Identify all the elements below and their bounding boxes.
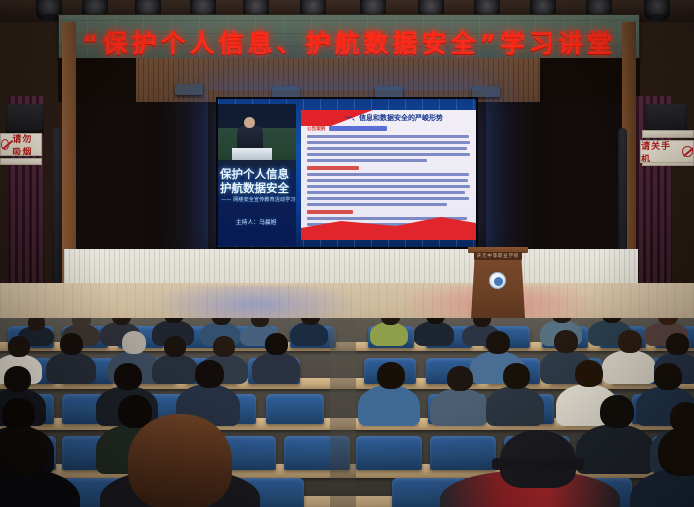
video-subtitle: —— 网络安全宣传教育活动学习讲堂 —— <box>221 196 296 203</box>
speaker-head <box>244 117 255 128</box>
no-smoking-sign: 请勿吸烟 <box>0 133 42 156</box>
slide-text-line <box>307 147 467 150</box>
slide-text-line <box>307 153 470 156</box>
speaker-video-panel: 保护个人信息 护航数据安全 —— 网络安全宣传教育活动学习讲堂 —— 主持人：马… <box>218 104 296 246</box>
slide-tag-highlight <box>329 126 387 132</box>
slide-section-header <box>307 210 353 214</box>
slide-section-header <box>307 166 359 170</box>
led-banner: “保护个人信息、护航数据安全”学习讲堂 <box>58 14 640 61</box>
slide-text-line <box>307 173 469 176</box>
no-phone-icon <box>682 146 693 157</box>
no-smoking-icon <box>1 139 9 150</box>
stage-barlight-icon <box>375 86 403 97</box>
slide-text-line <box>307 191 465 194</box>
sign-shelf-left <box>0 158 42 165</box>
center-aisle <box>330 318 356 507</box>
slide-text-line <box>307 197 469 200</box>
seat <box>356 436 422 470</box>
video-title-line2: 护航数据安全 <box>220 180 296 196</box>
speaker-body <box>237 126 263 150</box>
slide-text-line <box>307 159 427 162</box>
wall-speaker-left <box>6 104 44 134</box>
video-host-label: 主持人：马晨旭 <box>236 218 277 226</box>
stage-barlight-icon <box>175 84 203 95</box>
seat <box>430 436 496 470</box>
seat <box>266 394 324 424</box>
school-crest-emblem-icon <box>489 272 506 289</box>
slide-text-line <box>307 179 468 182</box>
auditorium-scene: “保护个人信息、护航数据安全”学习讲堂 请勿吸烟 请关手机 <box>0 0 694 507</box>
stage-spotlight-icon <box>644 0 670 21</box>
stage-barlight-icon <box>272 86 300 97</box>
sign-shelf-right <box>642 130 694 138</box>
projection-screen: 保护个人信息 护航数据安全 —— 网络安全宣传教育活动学习讲堂 —— 主持人：马… <box>216 97 478 249</box>
video-podium <box>232 148 272 160</box>
stage-front-wall <box>64 249 638 283</box>
no-phone-label: 请关手机 <box>641 140 679 163</box>
slide-text-line <box>307 203 447 206</box>
slide-tag: 公告案例 <box>307 126 325 132</box>
no-smoking-label: 请勿吸烟 <box>12 133 41 156</box>
podium-label: 庆元中等职业学校 <box>474 252 522 260</box>
slide-text-line <box>307 135 469 138</box>
cap-brim <box>492 458 584 470</box>
slide-text-line <box>307 185 470 188</box>
no-phone-sign: 请关手机 <box>640 140 694 163</box>
slide-text-line <box>307 141 470 144</box>
slide-panel: 一、信息和数据安全的严峻形势 公告案例 <box>301 110 476 240</box>
banner-text: “保护个人信息、护航数据安全”学习讲堂 <box>59 24 639 60</box>
slide-title: 一、信息和数据安全的严峻形势 <box>345 113 473 123</box>
stage-barlight-icon <box>472 86 500 97</box>
